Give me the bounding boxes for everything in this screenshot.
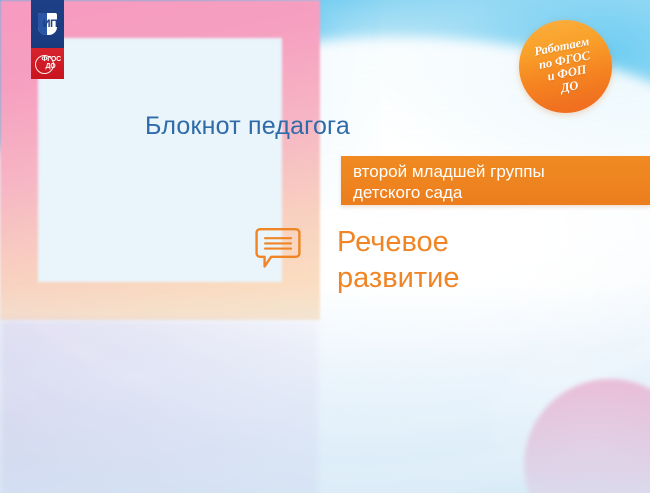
fgos-stamp-line-1: ФГОС <box>41 56 61 63</box>
decorative-ring-purple <box>0 320 318 493</box>
fgos-fop-badge: Работаем по ФГОС и ФОП ДО <box>519 20 612 113</box>
section-heading-line-1: Речевое <box>337 224 459 260</box>
publisher-shield-icon: ИП <box>38 13 57 35</box>
book-cover: ИП ФГОС ДО Работаем по ФГОС и ФОП ДО Бло… <box>0 0 650 493</box>
section-heading: Речевое развитие <box>337 224 459 296</box>
subtitle-line-2: детского сада <box>353 182 650 203</box>
cover-title: Блокнот педагога <box>145 111 350 141</box>
publisher-logo-bottom-panel: ФГОС ДО <box>31 48 64 79</box>
fgos-stamp-line-2: ДО <box>41 63 61 70</box>
fgos-fop-badge-text: Работаем по ФГОС и ФОП ДО <box>533 35 598 99</box>
fgos-stamp-icon: ФГОС ДО <box>34 54 61 74</box>
fgos-stamp-text: ФГОС ДО <box>41 56 61 70</box>
subtitle-banner-text: второй младшей группы детского сада <box>353 161 650 203</box>
publisher-logo-top-panel: ИП <box>31 0 64 48</box>
publisher-logo: ИП ФГОС ДО <box>31 0 64 79</box>
subtitle-line-1: второй младшей группы <box>353 161 650 182</box>
subtitle-banner: второй младшей группы детского сада <box>341 156 650 205</box>
section-heading-line-2: развитие <box>337 260 459 296</box>
publisher-shield-mark: ИП <box>38 19 57 30</box>
speech-bubble-icon <box>255 226 301 270</box>
